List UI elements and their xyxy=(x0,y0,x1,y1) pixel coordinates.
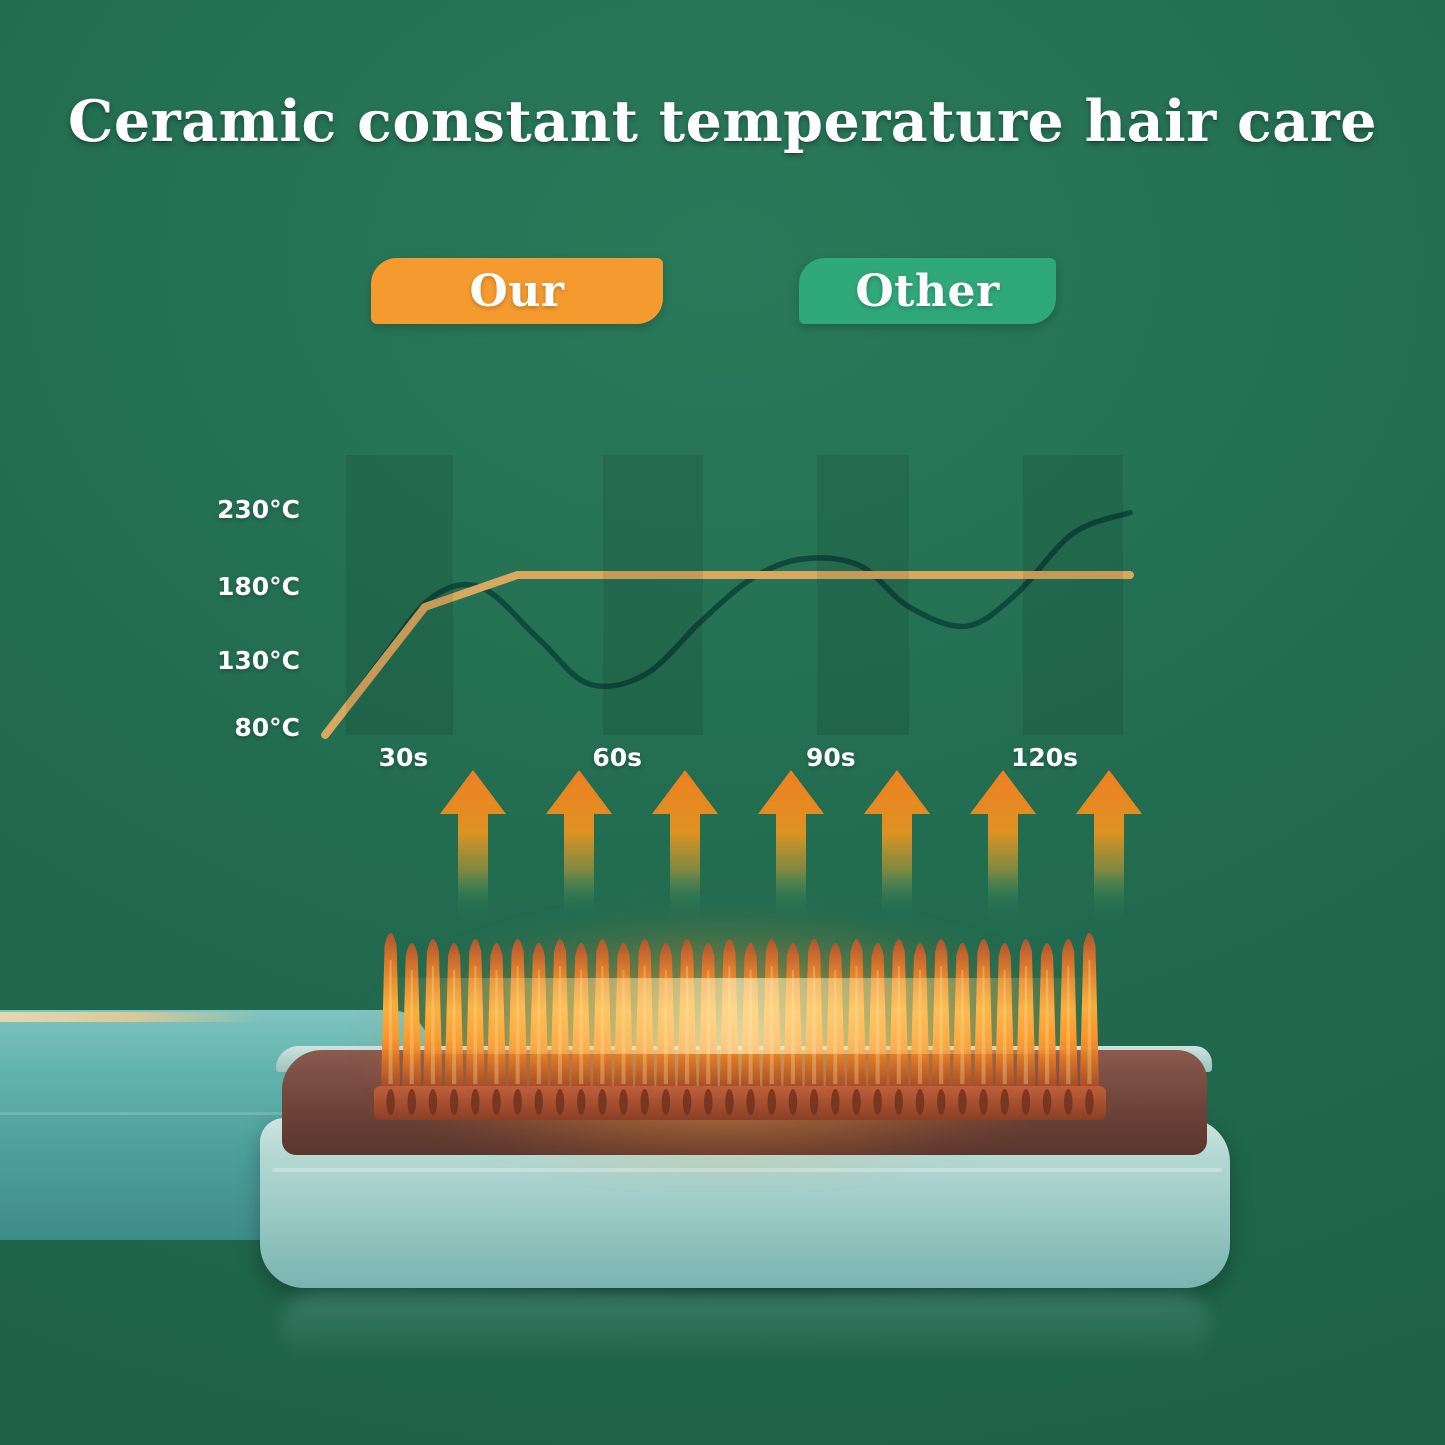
heat-arrow xyxy=(970,770,1036,918)
comb-teeth-svg xyxy=(380,914,1100,1124)
legend-chip-other: Other xyxy=(799,258,1056,324)
infographic-canvas: Ceramic constant temperature hair care O… xyxy=(0,0,1445,1445)
y-tick-230: 230°C xyxy=(217,495,300,524)
y-tick-180: 180°C xyxy=(217,572,300,601)
base-seam-line xyxy=(272,1168,1222,1172)
heat-arrow xyxy=(652,770,718,918)
chart-shaded-band xyxy=(817,455,910,735)
chart-shaded-band xyxy=(603,455,703,735)
x-tick-30s: 30s xyxy=(379,743,429,772)
ceramic-comb-teeth xyxy=(380,914,1100,1124)
temperature-chart: 230°C 180°C 130°C 80°C 30s60s90s120s xyxy=(200,455,1160,800)
legend-chip-other-label: Other xyxy=(855,266,999,317)
legend-chip-our: Our xyxy=(371,258,663,324)
y-tick-130: 130°C xyxy=(217,646,300,675)
chart-shaded-band xyxy=(346,455,453,735)
y-axis-tick-labels: 230°C 180°C 130°C 80°C xyxy=(200,455,300,715)
heat-arrow xyxy=(440,770,506,918)
page-title: Ceramic constant temperature hair care xyxy=(0,88,1445,155)
legend-chip-our-label: Our xyxy=(470,266,565,317)
chart-plot-area xyxy=(318,455,1130,735)
handle-gold-trim xyxy=(0,1012,260,1022)
rising-heat-arrows xyxy=(440,768,1150,918)
surface-reflection xyxy=(280,1292,1210,1362)
heat-arrow xyxy=(546,770,612,918)
heat-arrow xyxy=(1076,770,1142,918)
product-photo xyxy=(0,900,1330,1360)
y-tick-80: 80°C xyxy=(234,713,300,742)
heat-arrow xyxy=(758,770,824,918)
chart-shaded-band xyxy=(1023,455,1123,735)
heat-arrow xyxy=(864,770,930,918)
